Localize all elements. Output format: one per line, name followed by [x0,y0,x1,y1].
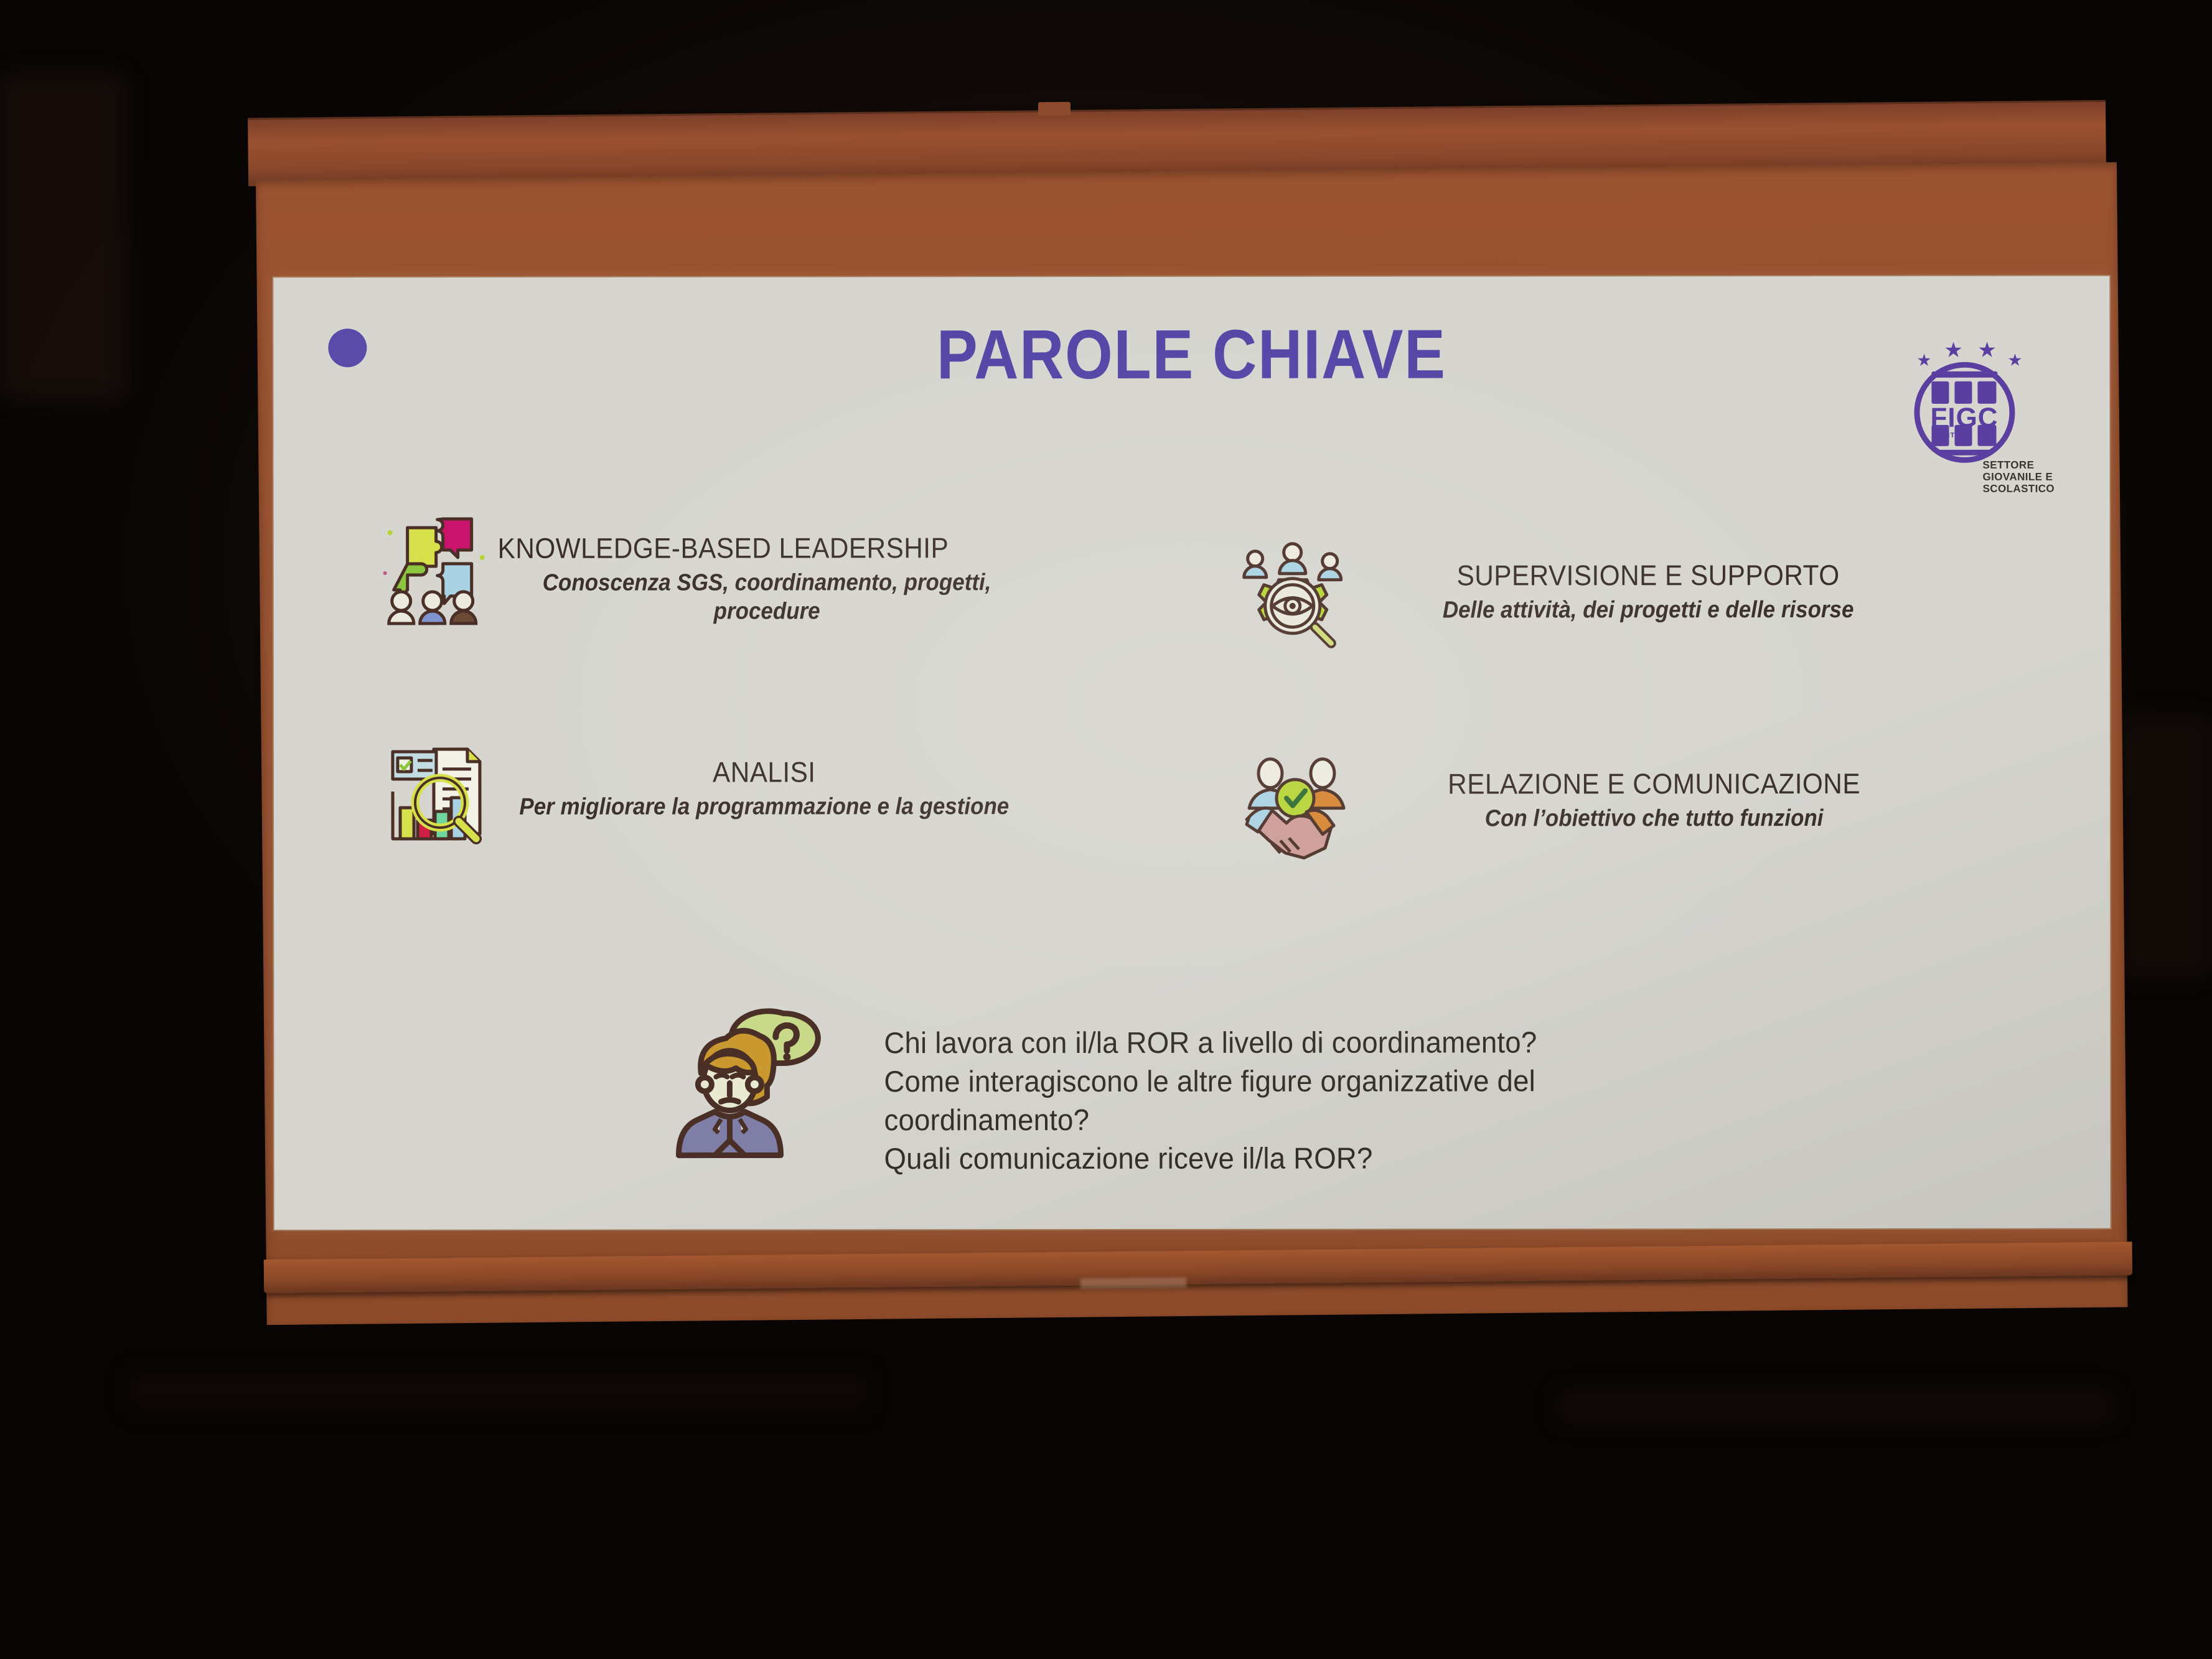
keyword-supervisione-e-supporto: SUPERVISIONE E SUPPORTO Delle attività, … [1235,541,2045,657]
question-line: Chi lavora con il/la ROR a livello di co… [884,1024,1537,1063]
question-line: Come interagiscono le altre figure organ… [884,1062,1537,1101]
question-line: Quali comunicazione riceve il/la ROR? [884,1139,1537,1179]
keyword-title: RELAZIONE E COMUNICAZIONE [1351,767,1957,801]
screen-pull-tab[interactable] [1080,1278,1186,1289]
star-icon: ★ [1944,340,1963,361]
handshake-check-icon [1235,750,1351,865]
thinking-person-question-icon [672,996,859,1195]
roller-knob[interactable] [1038,102,1071,116]
logo-country: ITALIA [1947,432,1973,439]
gear-eye-people-icon [1235,541,1351,657]
keyword-subtitle: Con l’obiettivo che tutto funzioni [1351,804,1957,833]
chart-document-magnifier-icon [383,738,498,853]
projector-screen: PAROLE CHIAVE ★ ★ ★ ★ [248,100,2127,1329]
keyword-subtitle: Delle attività, dei progetti e delle ris… [1351,596,1946,625]
keyword-relazione-e-comunicazione: RELAZIONE E COMUNICAZIONE Con l’obiettiv… [1235,749,2057,865]
star-icon: ★ [1977,340,1997,361]
keyword-subtitle: Conoscenza SGS, coordinamento, progetti,… [498,568,1036,626]
star-icon: ★ [1916,350,1931,371]
keyword-knowledge-based-leadership: KNOWLEDGE-BASED LEADERSHIP Conoscenza SG… [383,513,1161,629]
wall-shadow [124,1369,871,1413]
accent-dot [328,329,367,367]
keyword-title: SUPERVISIONE E SUPPORTO [1351,558,1946,592]
logo-stars: ★ ★ ★ ★ [1916,337,2035,366]
keyword-title: KNOWLEDGE-BASED LEADERSHIP [498,531,1036,565]
wall-shadow [1556,1388,2116,1425]
wall-shadow [2116,716,2212,977]
presentation-slide: PAROLE CHIAVE ★ ★ ★ ★ [273,276,2110,1230]
puzzle-people-icon [383,514,498,629]
logo-department: SETTORE GIOVANILE E SCOLASTICO [1983,459,2055,495]
page-title: PAROLE CHIAVE [383,314,1999,395]
keyword-title: ANALISI [498,755,1031,789]
keyword-analisi: ANALISI Per migliorare la programmazione… [383,737,1161,853]
logo-wordmark: FIGC [1930,404,1998,432]
question-line: coordinamento? [884,1101,1537,1140]
question-text: Chi lavora con il/la ROR a livello di co… [884,995,1537,1179]
wall-shadow [0,75,124,398]
auditorium-scene: PAROLE CHIAVE ★ ★ ★ ★ [0,0,2212,1659]
keyword-subtitle: Per migliorare la programmazione e la ge… [498,792,1031,821]
star-icon: ★ [2007,350,2022,371]
figc-logo: ★ ★ ★ ★ FIGC ITALIA SETTO [1913,337,2056,493]
question-block: Chi lavora con il/la ROR a livello di co… [672,995,2041,1195]
